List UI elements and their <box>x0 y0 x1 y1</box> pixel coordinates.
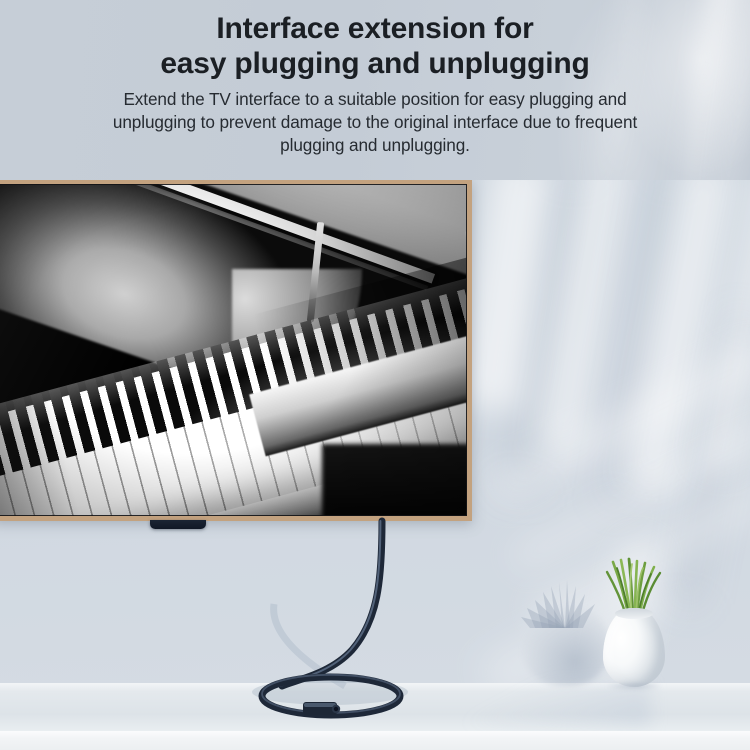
title-line-1: Interface extension for <box>216 12 533 45</box>
banner-header: Interface extension for easy plugging an… <box>0 0 750 180</box>
plant-shadow-blades <box>515 560 611 630</box>
potted-plant <box>595 562 675 687</box>
cable-drop <box>282 521 382 686</box>
title-line-2: easy plugging and unplugging <box>0 46 750 81</box>
vase <box>603 608 665 687</box>
product-photo <box>0 180 750 750</box>
subtitle-line-3: plugging and unplugging. <box>0 134 750 157</box>
product-banner: Interface extension for easy plugging an… <box>0 0 750 750</box>
page-title: Interface extension for easy plugging an… <box>0 0 750 81</box>
vase-contact-shadow <box>605 682 663 690</box>
cable-drop-highlight <box>280 521 380 686</box>
subtitle-line-1: Extend the TV interface to a suitable po… <box>0 88 750 111</box>
vase-rim <box>615 608 653 619</box>
page-subtitle: Extend the TV interface to a suitable po… <box>0 81 750 157</box>
cable-connector-hole <box>334 707 338 711</box>
cable-connector-highlight <box>304 703 336 707</box>
subtitle-line-2: unplugging to prevent damage to the orig… <box>0 111 750 134</box>
